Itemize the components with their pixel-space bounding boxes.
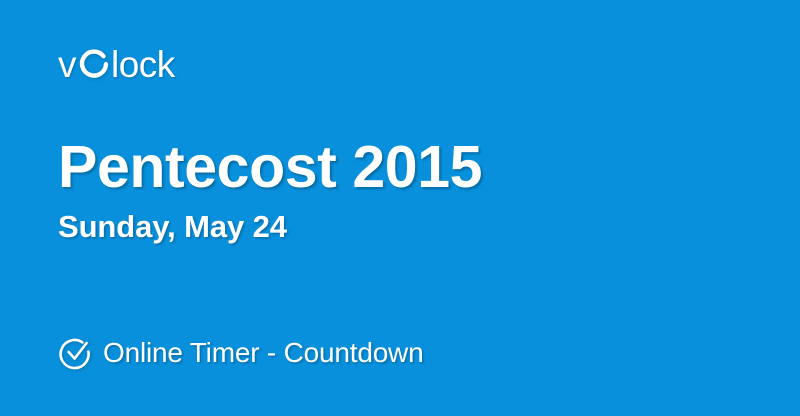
brand-wordmark: v lock [58,45,175,83]
timer-check-circle-icon [58,336,92,370]
tool-link[interactable]: Online Timer - Countdown [58,331,423,375]
brand-letter-v: v [58,46,76,83]
brand-logo[interactable]: v lock [58,42,175,86]
brand-letters-lock: lock [111,46,175,83]
tool-label: Online Timer - Countdown [103,339,423,367]
event-date: Sunday, May 24 [58,210,758,244]
headline-block: Pentecost 2015 Sunday, May 24 [58,136,758,244]
clock-c-icon [78,48,110,80]
page-title: Pentecost 2015 [58,136,758,199]
share-card: v lock Pentecost 2015 Sunday, May 24 Onl… [0,0,800,416]
